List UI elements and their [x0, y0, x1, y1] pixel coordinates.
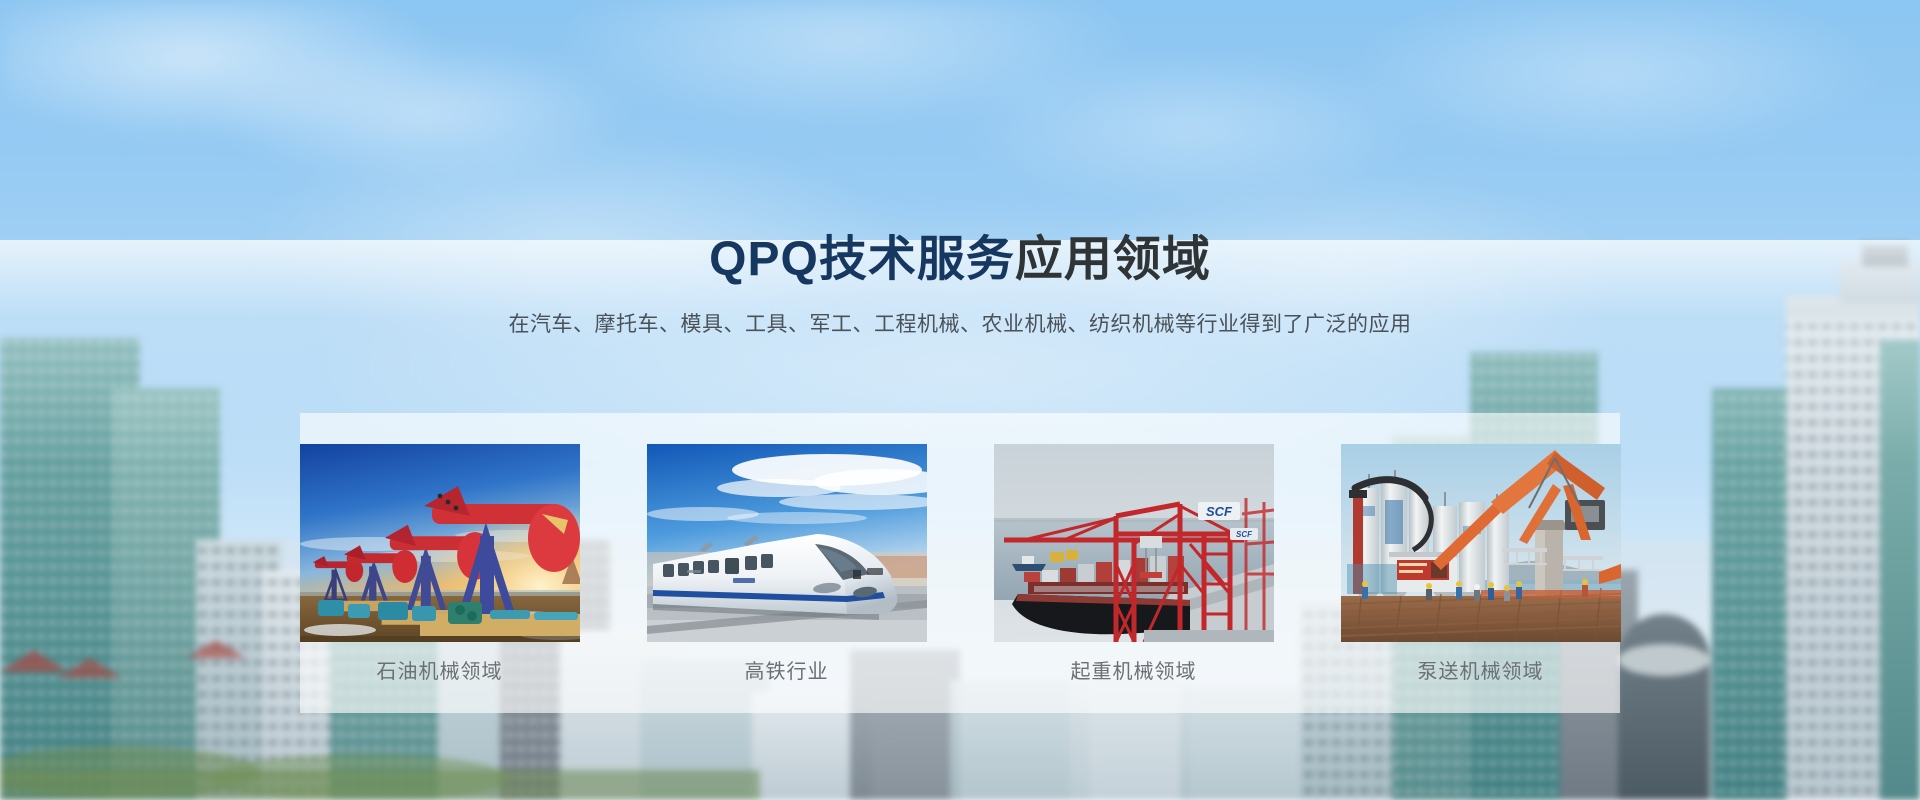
card-thumbnail-oil-pumpjacks[interactable] [300, 444, 580, 642]
heading-block: QPQ技术服务应用领域 在汽车、摩托车、模具、工具、军工、工程机械、农业机械、纺… [0, 236, 1920, 339]
page-title-secondary: 应用领域 [1015, 233, 1211, 286]
svg-text:SCF: SCF [1206, 504, 1233, 519]
hero-banner: QPQ技术服务应用领域 在汽车、摩托车、模具、工具、军工、工程机械、农业机械、纺… [0, 0, 1920, 800]
page-title-primary: QPQ技术服务 [709, 233, 1015, 286]
card-list: 石油机械领域 [300, 413, 1620, 713]
card-thumbnail-high-speed-train[interactable] [647, 444, 927, 642]
card-label: 高铁行业 [647, 662, 927, 682]
card-oil-machinery[interactable]: 石油机械领域 [300, 444, 580, 682]
card-thumbnail-concrete-pump[interactable] [1341, 444, 1621, 642]
page-subtitle: 在汽车、摩托车、模具、工具、军工、工程机械、农业机械、纺织机械等行业得到了广泛的… [0, 310, 1920, 339]
card-high-speed-rail[interactable]: 高铁行业 [647, 444, 927, 682]
application-cards-panel: 石油机械领域 [300, 413, 1620, 713]
card-pumping-machinery[interactable]: 泵送机械领域 [1341, 444, 1621, 682]
card-label: 起重机械领域 [994, 662, 1274, 682]
card-label: 泵送机械领域 [1341, 662, 1621, 682]
card-label: 石油机械领域 [300, 662, 580, 682]
card-thumbnail-port-cranes[interactable]: SCF SCF [994, 444, 1274, 642]
page-title: QPQ技术服务应用领域 [0, 236, 1920, 284]
svg-text:SCF: SCF [1236, 530, 1253, 539]
card-lifting-machinery[interactable]: SCF SCF 起重机械领域 [994, 444, 1274, 682]
